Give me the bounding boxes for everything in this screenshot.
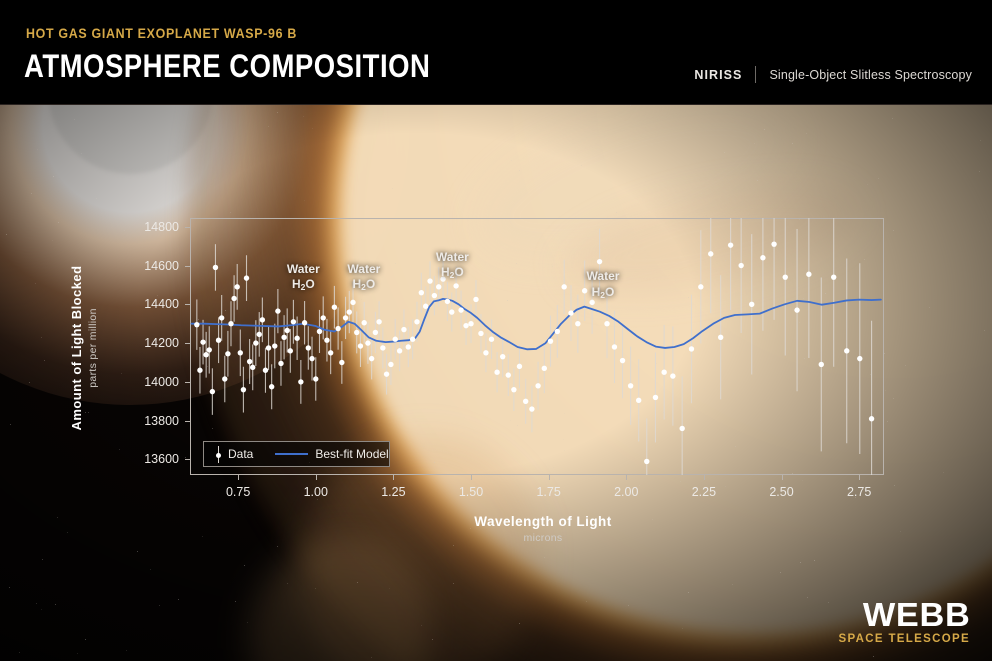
x-tick-label: 1.75: [536, 485, 560, 499]
legend-item-model: Best-fit Model: [275, 447, 388, 461]
water-annotation: WaterH2O: [587, 269, 620, 300]
y-tick-mark: [185, 421, 190, 422]
x-tick-mark: [549, 475, 550, 480]
legend-label-model: Best-fit Model: [315, 447, 388, 461]
x-tick-mark: [704, 475, 705, 480]
kicker-text: Hot Gas Giant Exoplanet WASP-96 b: [26, 26, 297, 41]
y-tick-label: 14800: [0, 220, 179, 234]
x-tick-mark: [626, 475, 627, 480]
infographic-canvas: Hot Gas Giant Exoplanet WASP-96 b Atmosp…: [0, 0, 992, 661]
x-axis-title: Wavelength of Light: [474, 514, 611, 529]
y-tick-mark: [185, 382, 190, 383]
y-axis-title: Amount of Light Blocked: [69, 265, 84, 430]
x-tick-label: 1.50: [459, 485, 483, 499]
x-tick-label: 2.25: [692, 485, 716, 499]
logo-subtitle: SPACE TELESCOPE: [839, 633, 970, 645]
x-tick-label: 2.50: [769, 485, 793, 499]
water-annotation: WaterH2O: [436, 250, 469, 281]
legend-item-data: Data: [215, 446, 253, 463]
y-tick-label: 13600: [0, 452, 179, 466]
page-title: Atmosphere Composition: [24, 48, 430, 85]
logo-wordmark: WEBB: [833, 599, 970, 630]
y-tick-mark: [185, 343, 190, 344]
x-tick-label: 1.00: [304, 485, 328, 499]
x-tick-label: 2.00: [614, 485, 638, 499]
webb-logo: WEBB SPACE TELESCOPE: [839, 599, 970, 645]
water-annotation: WaterH2O: [287, 262, 320, 293]
x-axis-label: Wavelength of Light microns: [474, 514, 611, 544]
chart-legend: Data Best-fit Model: [203, 441, 390, 467]
x-tick-mark: [471, 475, 472, 480]
observing-mode: Single-Object Slitless Spectroscopy: [769, 68, 972, 82]
x-tick-label: 0.75: [226, 485, 250, 499]
x-tick-mark: [782, 475, 783, 480]
x-tick-mark: [393, 475, 394, 480]
x-tick-label: 1.25: [381, 485, 405, 499]
model-line-icon: [275, 453, 308, 455]
y-axis-label: Amount of Light Blocked parts per millio…: [69, 265, 99, 430]
x-tick-label: 2.75: [847, 485, 871, 499]
x-tick-mark: [238, 475, 239, 480]
y-tick-mark: [185, 227, 190, 228]
x-tick-mark: [859, 475, 860, 480]
legend-label-data: Data: [228, 447, 253, 461]
header-rule: [0, 104, 992, 105]
y-tick-mark: [185, 304, 190, 305]
x-tick-mark: [316, 475, 317, 480]
instrument-info: NIRISS Single-Object Slitless Spectrosco…: [694, 66, 972, 83]
y-axis-units: parts per million: [87, 265, 99, 430]
header-bar: Hot Gas Giant Exoplanet WASP-96 b Atmosp…: [0, 0, 992, 105]
y-tick-mark: [185, 459, 190, 460]
y-tick-mark: [185, 266, 190, 267]
water-annotation: WaterH2O: [347, 262, 380, 293]
data-point-icon: [215, 446, 222, 463]
divider: [755, 66, 756, 83]
instrument-name: NIRISS: [694, 68, 742, 82]
x-axis-units: microns: [474, 532, 611, 544]
